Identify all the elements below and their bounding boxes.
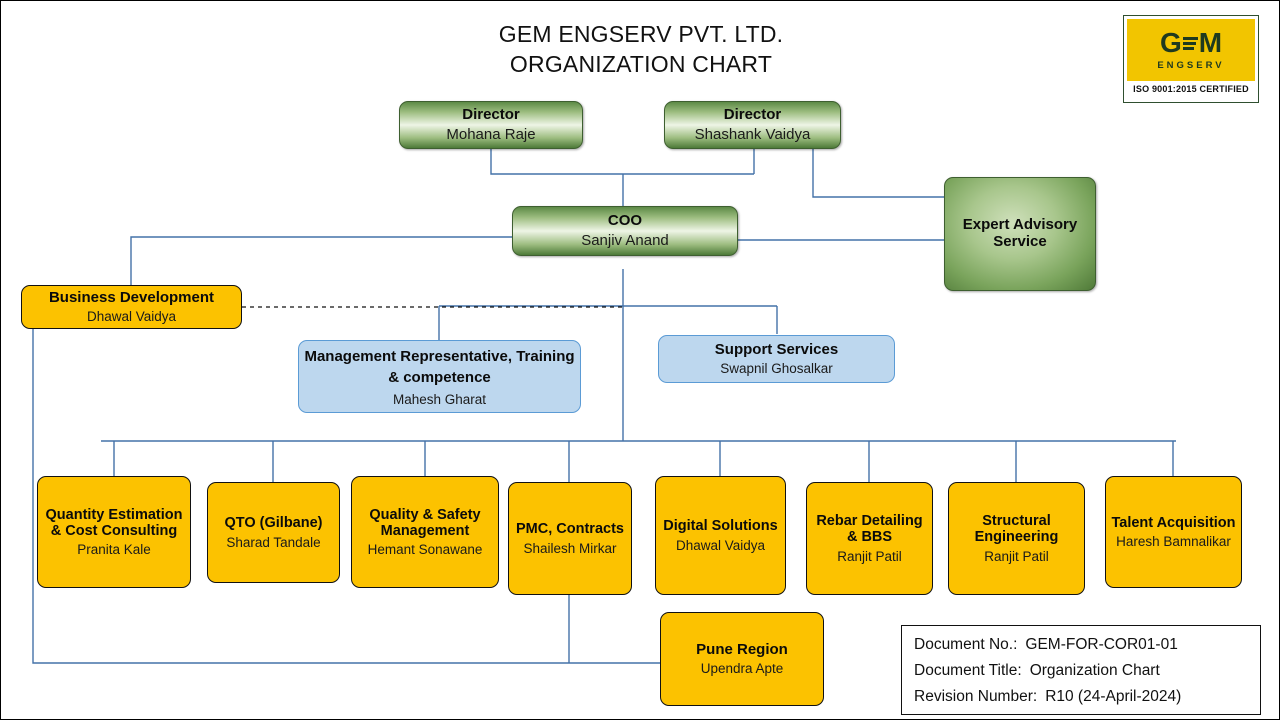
node-role: Rebar Detailing & BBS [812, 513, 927, 545]
logo-letter-g: G [1160, 29, 1182, 57]
doc-info-row: Document Title: Organization Chart [914, 658, 1250, 684]
document-info-table: Document No.: GEM-FOR-COR01-01 Document … [901, 625, 1261, 715]
node-quality-safety-management[interactable]: Quality & Safety Management Hemant Sonaw… [351, 476, 499, 588]
node-person: Swapnil Ghosalkar [720, 361, 833, 376]
logo-mark: G M ENGSERV [1127, 19, 1255, 81]
node-role: Director [462, 107, 520, 124]
node-person: Shailesh Mirkar [523, 541, 616, 556]
node-person: Mohana Raje [446, 127, 535, 144]
revision-number-label: Revision Number: [914, 684, 1037, 710]
node-coo[interactable]: COO Sanjiv Anand [512, 206, 738, 256]
node-person: Hemant Sonawane [368, 542, 483, 557]
logo-gem-wordmark: G M [1160, 29, 1222, 57]
node-person: Ranjit Patil [984, 549, 1049, 564]
node-person: Sanjiv Anand [581, 233, 669, 250]
node-role: Digital Solutions [663, 518, 777, 534]
node-role: Structural Engineering [954, 513, 1079, 545]
node-rebar-detailing-bbs[interactable]: Rebar Detailing & BBS Ranjit Patil [806, 482, 933, 595]
node-person: Shashank Vaidya [695, 127, 811, 144]
connector-lines [1, 1, 1280, 721]
node-quantity-estimation-cost-consulting[interactable]: Quantity Estimation & Cost Consulting Pr… [37, 476, 191, 588]
title-line-2: ORGANIZATION CHART [331, 49, 951, 79]
logo-subtitle: ENGSERV [1157, 60, 1224, 71]
node-support-services[interactable]: Support Services Swapnil Ghosalkar [658, 335, 895, 383]
node-pune-region[interactable]: Pune Region Upendra Apte [660, 612, 824, 706]
node-role: Management Representative, Training & co… [304, 346, 575, 390]
node-role: Support Services [715, 342, 838, 359]
node-talent-acquisition[interactable]: Talent Acquisition Haresh Bamnalikar [1105, 476, 1242, 588]
node-role: Quantity Estimation & Cost Consulting [43, 507, 185, 539]
node-person: Haresh Bamnalikar [1116, 534, 1231, 549]
node-person: Mahesh Gharat [393, 392, 486, 407]
node-person: Sharad Tandale [226, 535, 320, 550]
title-line-1: GEM ENGSERV PVT. LTD. [331, 19, 951, 49]
page-title: GEM ENGSERV PVT. LTD. ORGANIZATION CHART [331, 19, 951, 79]
node-pmc-contracts[interactable]: PMC, Contracts Shailesh Mirkar [508, 482, 632, 595]
doc-number-value: GEM-FOR-COR01-01 [1025, 632, 1177, 658]
node-role: QTO (Gilbane) [224, 515, 322, 531]
logo-letter-m: M [1199, 29, 1222, 57]
node-expert-advisory-service[interactable]: Expert Advisory Service [944, 177, 1096, 291]
iso-certification-text: ISO 9001:2015 CERTIFIED [1127, 84, 1255, 94]
node-qto-gilbane[interactable]: QTO (Gilbane) Sharad Tandale [207, 482, 340, 583]
organization-chart: GEM ENGSERV PVT. LTD. ORGANIZATION CHART… [0, 0, 1280, 720]
node-role: Business Development [49, 290, 214, 307]
doc-info-row: Revision Number: R10 (24-April-2024) [914, 684, 1250, 710]
node-person: Dhawal Vaidya [87, 309, 176, 324]
doc-title-value: Organization Chart [1030, 658, 1160, 684]
doc-number-label: Document No.: [914, 632, 1017, 658]
node-director-2[interactable]: Director Shashank Vaidya [664, 101, 841, 149]
doc-info-row: Document No.: GEM-FOR-COR01-01 [914, 632, 1250, 658]
node-structural-engineering[interactable]: Structural Engineering Ranjit Patil [948, 482, 1085, 595]
logo-e-bars-icon [1183, 37, 1198, 50]
company-logo: G M ENGSERV ISO 9001:2015 CERTIFIED [1123, 15, 1259, 103]
node-person: Pranita Kale [77, 542, 151, 557]
node-role: PMC, Contracts [516, 521, 624, 537]
node-role: Quality & Safety Management [357, 507, 493, 539]
node-director-1[interactable]: Director Mohana Raje [399, 101, 583, 149]
revision-number-value: R10 (24-April-2024) [1045, 684, 1181, 710]
node-digital-solutions[interactable]: Digital Solutions Dhawal Vaidya [655, 476, 786, 595]
node-role: Director [724, 107, 782, 124]
node-role: Talent Acquisition [1111, 515, 1235, 531]
node-role: COO [608, 213, 642, 230]
node-role: Expert Advisory Service [950, 217, 1090, 251]
node-management-representative[interactable]: Management Representative, Training & co… [298, 340, 581, 413]
node-person: Ranjit Patil [837, 549, 902, 564]
node-person: Upendra Apte [701, 661, 784, 676]
doc-title-label: Document Title: [914, 658, 1022, 684]
node-business-development[interactable]: Business Development Dhawal Vaidya [21, 285, 242, 329]
node-person: Dhawal Vaidya [676, 538, 765, 553]
node-role: Pune Region [696, 642, 788, 659]
